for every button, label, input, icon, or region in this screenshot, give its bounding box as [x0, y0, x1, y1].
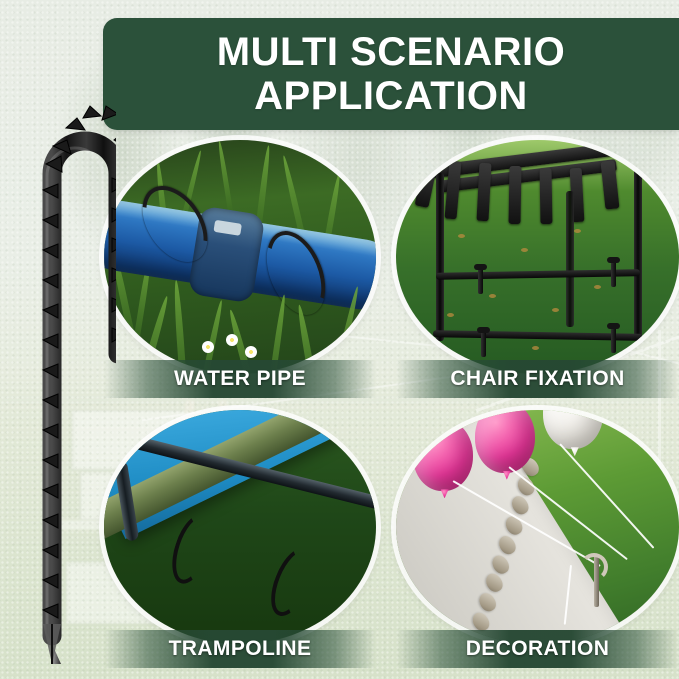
- scenario-photo-decoration: [396, 410, 679, 644]
- product-ground-stake: [6, 24, 116, 664]
- scenario-caption-decoration: DECORATION: [396, 630, 679, 668]
- ground-stake-bench-1: [478, 264, 483, 294]
- scenario-caption-water-pipe: WATER PIPE: [104, 360, 376, 398]
- scenario-label-water-pipe: WATER PIPE: [174, 367, 306, 391]
- scenario-card-water-pipe: WATER PIPE: [104, 140, 376, 398]
- bench-rail-upper: [436, 269, 640, 280]
- scenario-card-decoration: DECORATION: [396, 410, 679, 668]
- banner-title-line-1: MULTI SCENARIO: [217, 31, 565, 73]
- scenario-caption-trampoline: TRAMPOLINE: [104, 630, 376, 668]
- bench-leg-left: [436, 173, 444, 341]
- scenario-photo-water-pipe: [104, 140, 376, 374]
- balloon-pink-1: [413, 419, 473, 491]
- scenario-card-trampoline: TRAMPOLINE: [104, 410, 376, 668]
- scenario-label-trampoline: TRAMPOLINE: [169, 637, 312, 661]
- ground-stake-trampoline-1: [164, 509, 219, 588]
- bench-leg-right: [634, 159, 642, 342]
- balloon-white: [543, 410, 603, 449]
- balloon-pink-2: [475, 410, 535, 473]
- product-infographic: MULTI SCENARIO APPLICATION: [0, 0, 679, 679]
- ground-stake-trampoline-2: [263, 542, 321, 621]
- banner-title-line-2: APPLICATION: [254, 75, 528, 117]
- scenario-label-decoration: DECORATION: [466, 637, 610, 661]
- scenario-photo-trampoline: [104, 410, 376, 644]
- ground-stake-bench-2: [611, 257, 616, 287]
- scenario-label-chair-fixation: CHAIR FIXATION: [450, 367, 624, 391]
- scenario-photo-chair-fixation: [396, 140, 679, 374]
- scenario-caption-chair-fixation: CHAIR FIXATION: [396, 360, 679, 398]
- ground-stake-bench-4: [611, 323, 616, 353]
- scenario-card-chair-fixation: CHAIR FIXATION: [396, 140, 679, 398]
- stake-shaft: [52, 141, 116, 636]
- header-banner: MULTI SCENARIO APPLICATION: [103, 18, 679, 130]
- ground-stake-decoration: [594, 555, 599, 607]
- ground-stake-bench-3: [481, 327, 486, 357]
